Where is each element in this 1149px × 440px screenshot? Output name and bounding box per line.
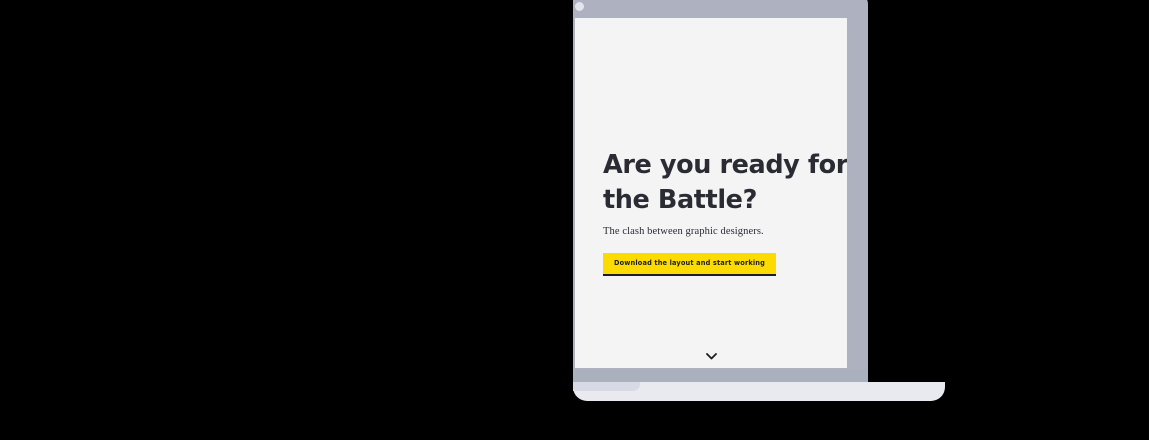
chevron-down-icon bbox=[706, 347, 717, 364]
laptop-base-notch bbox=[573, 382, 640, 391]
laptop-hinge bbox=[573, 369, 868, 382]
webpage-viewport: Are you ready for the Battle? The clash … bbox=[575, 18, 847, 368]
hero-section: Are you ready for the Battle? The clash … bbox=[603, 148, 847, 274]
screenshot-stage: Are you ready for the Battle? The clash … bbox=[0, 0, 1149, 440]
cta-wrapper: Download the layout and start working bbox=[603, 252, 776, 274]
scroll-down-button[interactable] bbox=[575, 348, 847, 364]
page-title: Are you ready for the Battle? bbox=[603, 148, 847, 218]
laptop-mockup: Are you ready for the Battle? The clash … bbox=[0, 0, 1149, 440]
download-layout-button[interactable]: Download the layout and start working bbox=[603, 253, 776, 274]
hero-subtitle: The clash between graphic designers. bbox=[603, 226, 847, 237]
webcam-icon bbox=[575, 2, 584, 11]
laptop-screen: Are you ready for the Battle? The clash … bbox=[575, 18, 847, 368]
